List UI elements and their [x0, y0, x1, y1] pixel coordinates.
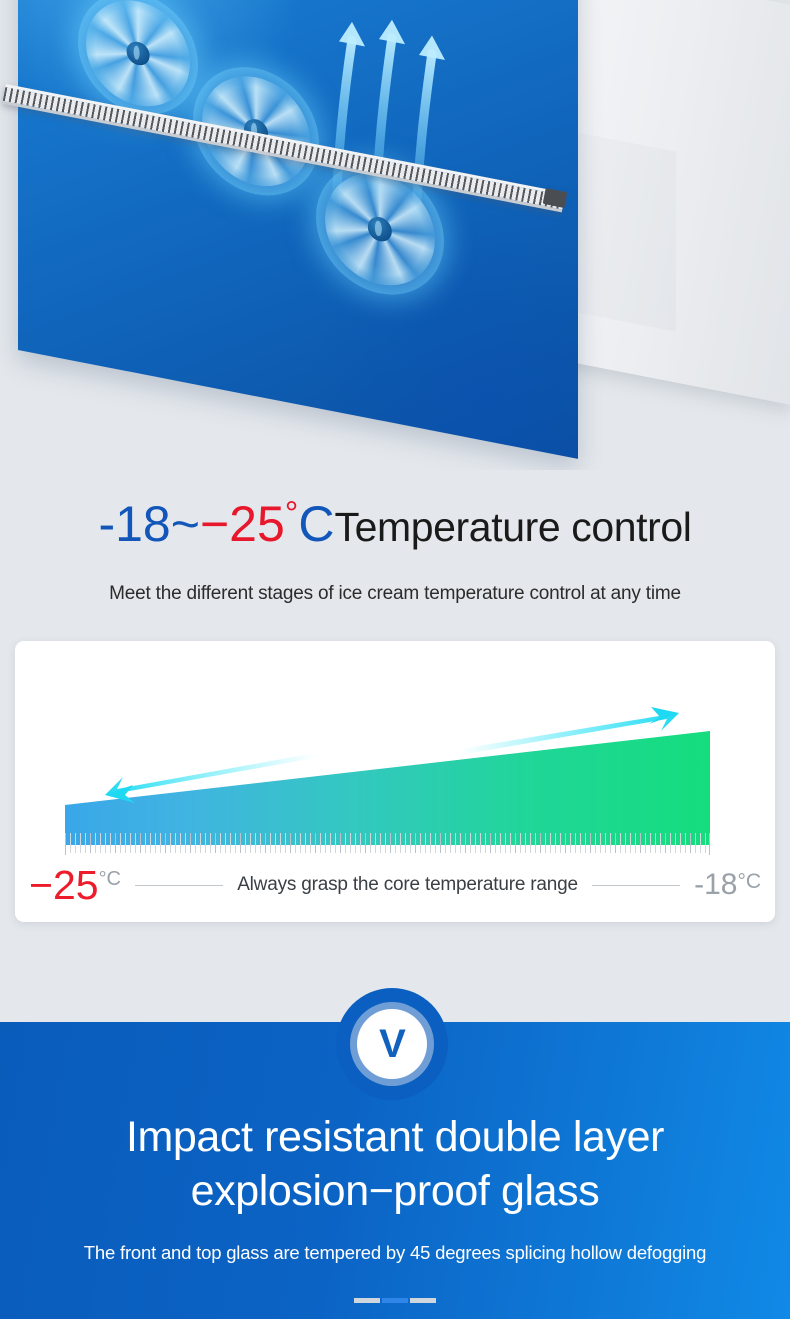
pagination-dot-1[interactable] — [354, 1298, 380, 1303]
range-low-temperature: −25°C — [29, 865, 121, 906]
temperature-ruler-scale — [65, 833, 710, 853]
glass-feature-title: Impact resistant double layer explosion−… — [0, 1110, 790, 1218]
glass-feature-subtitle: The front and top glass are tempered by … — [0, 1242, 790, 1264]
temperature-headline: -18~−25°CTemperature control — [0, 497, 790, 549]
badge-letter: V — [379, 1024, 405, 1064]
carousel-pagination[interactable] — [0, 1298, 790, 1303]
headline-label: Temperature control — [334, 504, 691, 550]
glass-feature-title-line1: Impact resistant double layer — [0, 1110, 790, 1164]
range-caption: Always grasp the core temperature range — [237, 874, 578, 896]
range-high-unit: °C — [737, 870, 761, 893]
temperature-subtitle: Meet the different stages of ice cream t… — [0, 583, 790, 605]
range-high-value: -18 — [694, 868, 737, 901]
cooling-fan-panel — [18, 0, 578, 459]
range-low-unit: °C — [99, 868, 121, 890]
headline-high-value: −25 — [200, 496, 285, 552]
pagination-dot-3[interactable] — [410, 1298, 436, 1303]
headline-tilde: ~ — [171, 496, 200, 552]
temperature-range-card: −25°C Always grasp the core temperature … — [15, 641, 775, 922]
badge-inner-ring: V — [350, 1002, 434, 1086]
range-high-temperature: -18°C — [694, 870, 761, 900]
headline-degree-symbol: ° — [285, 495, 299, 533]
range-low-value: −25 — [29, 862, 99, 908]
pagination-dot-2[interactable] — [382, 1298, 408, 1303]
feature-badge: V — [336, 988, 448, 1100]
range-card-footer: −25°C Always grasp the core temperature … — [15, 862, 775, 908]
headline-low-value: -18 — [98, 496, 170, 552]
divider-line-left — [135, 885, 223, 886]
divider-line-right — [592, 885, 680, 886]
ruler-start-cap — [65, 833, 66, 855]
badge-core: V — [357, 1009, 427, 1079]
ruler-end-cap — [709, 833, 710, 855]
glass-feature-title-line2: explosion−proof glass — [0, 1164, 790, 1218]
hero-product-image — [0, 0, 790, 470]
product-detail-page: -18~−25°CTemperature control Meet the di… — [0, 0, 790, 1319]
headline-celsius: C — [298, 496, 334, 552]
